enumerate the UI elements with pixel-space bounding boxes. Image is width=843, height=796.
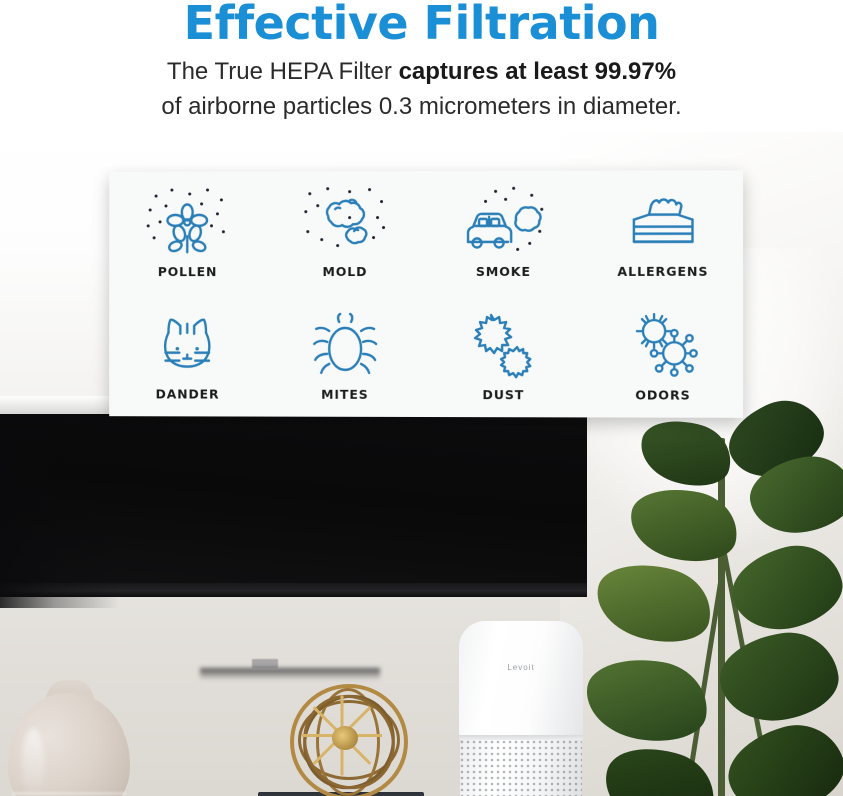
panel-item-mold: MOLD	[266, 171, 424, 294]
page-title: Effective Filtration	[0, 0, 843, 50]
panel-item-dust: DUST	[424, 294, 583, 417]
armillary-sphere-sculpture	[288, 684, 406, 796]
left-vignette-shadow	[0, 428, 120, 608]
panel-item-label: ODORS	[635, 387, 690, 402]
panel-item-odors: ODORS	[583, 294, 743, 418]
panel-item-label: POLLEN	[158, 264, 218, 279]
panel-item-allergens: ALLERGENS	[583, 170, 743, 294]
subtitle-normal-text: The True HEPA Filter	[167, 58, 399, 85]
panel-item-pollen: POLLEN	[109, 171, 266, 294]
panel-item-mites: MITES	[266, 294, 424, 417]
panel-item-label: MITES	[321, 387, 369, 402]
cat-face-icon	[145, 309, 230, 381]
purifier-body	[459, 621, 583, 739]
vase-band	[12, 792, 126, 795]
panel-item-dander: DANDER	[109, 294, 266, 417]
fiddle-leaf-fig-plant	[600, 398, 843, 796]
header-section: Effective Filtration The True HEPA Filte…	[0, 0, 843, 132]
subtitle-line-2: of airborne particles 0.3 micrometers in…	[0, 93, 843, 121]
filtration-icon-panel: POLLEN	[109, 170, 743, 418]
car-exhaust-smoke-icon	[460, 186, 546, 258]
tv-stand-shadow	[200, 668, 380, 680]
dust-particles-icon	[460, 309, 546, 381]
panel-item-label: DUST	[482, 387, 524, 402]
product-marketing-image: Levoit Effective Filtration The True HEP…	[0, 0, 843, 796]
pollen-flower-icon	[145, 186, 230, 258]
purifier-brand-label: Levoit	[495, 663, 547, 673]
tv-brand-logo	[252, 659, 278, 668]
dust-mite-icon	[302, 309, 388, 381]
air-purifier: Levoit	[459, 621, 583, 796]
panel-item-label: MOLD	[322, 264, 367, 279]
panel-item-label: DANDER	[156, 386, 220, 401]
purifier-mesh-grille	[460, 740, 582, 796]
panel-item-label: SMOKE	[476, 264, 531, 279]
tissue-box-icon	[620, 185, 707, 258]
subtitle-bold-text: captures at least 99.97%	[399, 58, 677, 85]
panel-item-label: ALLERGENS	[617, 264, 708, 279]
odor-molecules-icon	[620, 309, 707, 381]
mold-spores-icon	[302, 186, 388, 258]
subtitle-line-1: The True HEPA Filter captures at least 9…	[0, 58, 843, 86]
vase-highlight	[22, 728, 44, 796]
panel-item-smoke: SMOKE	[424, 171, 583, 294]
